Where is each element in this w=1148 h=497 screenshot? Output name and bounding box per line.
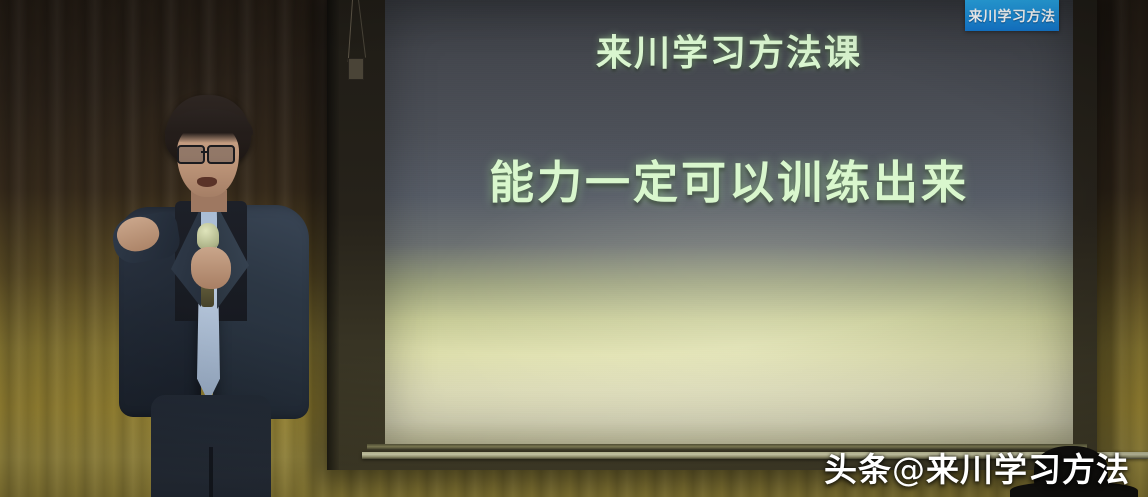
channel-watermark: 头条@来川学习方法 <box>824 443 1130 491</box>
video-frame: 来川学习方法课 能力一定可以训练出来 来川学习方法 <box>0 0 1148 497</box>
frame-vignette <box>0 0 1148 497</box>
watermark-at-symbol: @ <box>892 450 926 489</box>
watermark-platform: 头条 <box>824 450 892 489</box>
watermark-handle: 来川学习方法 <box>926 450 1130 489</box>
